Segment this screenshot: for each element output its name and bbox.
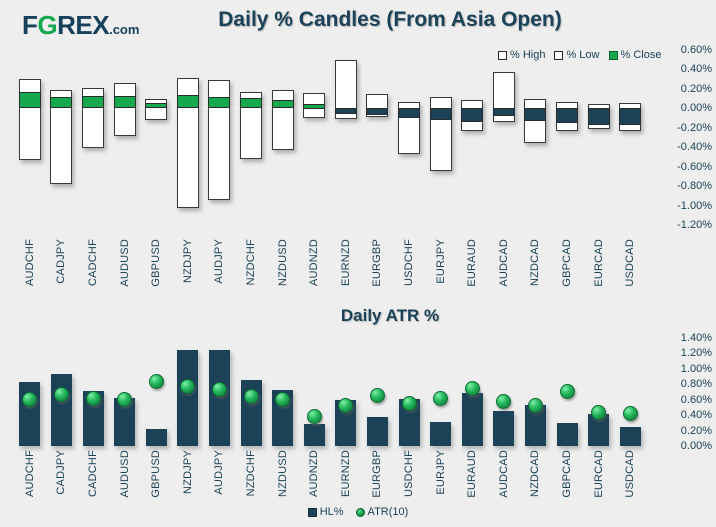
y-axis-tick-label: 0.40% [681, 409, 712, 421]
candle-close-positive [145, 103, 167, 108]
x-axis-tick-label: AUDNZD [308, 450, 320, 497]
atr-dot-audcad [496, 394, 511, 409]
candle-range-body [145, 99, 167, 120]
page-header: FGREX.com Daily % Candles (From Asia Ope… [0, 0, 716, 44]
candle-audnzd [303, 93, 325, 118]
atr-dot-usdcad [623, 406, 638, 421]
x-axis-tick-label: CADCHF [87, 450, 99, 497]
candle-audcad [493, 72, 515, 122]
atr-dot-cadjpy [54, 387, 69, 402]
hl-bar-audcad [493, 411, 514, 446]
atr-dot-eurnzd [338, 398, 353, 413]
x-axis-tick-label: AUDCAD [498, 239, 510, 287]
bottom-chart-x-axis: AUDCHFCADJPYCADCHFAUDUSDGBPUSDNZDJPYAUDJ… [14, 448, 646, 503]
candle-audusd [114, 83, 136, 136]
candle-close-positive [177, 95, 199, 109]
x-axis-tick-label: EURJPY [435, 450, 447, 495]
y-axis-tick-label: 0.60% [681, 44, 712, 56]
atr-dot-gbpcad [560, 384, 575, 399]
x-axis-tick-label: AUDNZD [308, 239, 320, 286]
x-axis-tick-label: GBPUSD [150, 239, 162, 287]
y-axis-tick-label: -0.60% [677, 161, 712, 173]
x-axis-tick-label: EURGBP [371, 450, 383, 498]
candle-close-negative [619, 108, 641, 125]
y-axis-tick-label: 0.00% [681, 440, 712, 452]
logo-text-rex: REX [57, 10, 109, 40]
atr-dot-euraud [465, 381, 480, 396]
hl-bar-eurgbp [367, 417, 388, 446]
x-axis-tick-label: EURCAD [593, 450, 605, 498]
top-chart-title: Daily % Candles (From Asia Open) [180, 8, 600, 32]
hl-bar-nzdjpy [177, 350, 198, 446]
candle-range-body [114, 83, 136, 136]
candle-cadjpy [50, 90, 72, 185]
candle-nzdcad [524, 99, 546, 144]
candle-nzdjpy [177, 78, 199, 208]
y-axis-tick-label: 0.80% [681, 378, 712, 390]
atr-dot-usdchf [402, 396, 417, 411]
bottom-chart-plot-area [14, 330, 646, 446]
y-axis-tick-label: -1.20% [677, 219, 712, 231]
candle-eurgbp [366, 94, 388, 117]
candle-nzdchf [240, 92, 262, 159]
candle-close-positive [114, 96, 136, 109]
y-axis-tick-label: 0.40% [681, 63, 712, 75]
y-axis-tick-label: 1.20% [681, 347, 712, 359]
legend-item-atr10: ATR(10) [356, 506, 409, 518]
hl-bar-euraud [462, 393, 483, 446]
candle-close-negative [524, 108, 546, 121]
candle-range-body [272, 90, 294, 150]
candle-cadchf [82, 88, 104, 148]
legend-label-hl-pct: HL% [320, 506, 344, 518]
candle-close-positive [240, 98, 262, 108]
candle-nzdusd [272, 90, 294, 150]
bottom-chart-y-axis: 1.40%1.20%1.00%0.80%0.60%0.40%0.20%0.00% [648, 330, 714, 446]
x-axis-tick-label: EURNZD [340, 239, 352, 286]
atr-dot-nzdcad [528, 398, 543, 413]
x-axis-tick-label: NZDCAD [529, 239, 541, 286]
x-axis-tick-label: AUDJPY [213, 450, 225, 495]
x-axis-tick-label: NZDCHF [245, 239, 257, 285]
x-axis-tick-label: EURGBP [371, 239, 383, 287]
top-chart-y-axis: 0.60%0.40%0.20%0.00%-0.20%-0.40%-0.60%-0… [648, 40, 714, 235]
candle-close-negative [588, 108, 610, 125]
hl-bar-gbpcad [557, 423, 578, 446]
atr-dot-cadchf [86, 391, 101, 406]
y-axis-tick-label: -0.20% [677, 122, 712, 134]
x-axis-tick-label: EURAUD [466, 239, 478, 287]
x-axis-tick-label: AUDCHF [24, 239, 36, 286]
candle-close-negative [335, 108, 357, 114]
bottom-chart-panel: 1.40%1.20%1.00%0.80%0.60%0.40%0.20%0.00%… [0, 330, 716, 505]
candle-gbpcad [556, 102, 578, 130]
candle-close-positive [50, 97, 72, 109]
candle-close-negative [430, 108, 452, 120]
atr-dot-eurjpy [433, 391, 448, 406]
top-chart-x-axis: AUDCHFCADJPYCADCHFAUDUSDGBPUSDNZDJPYAUDJ… [14, 237, 646, 292]
top-chart-panel: 0.60%0.40%0.20%0.00%-0.20%-0.40%-0.60%-0… [0, 40, 716, 290]
candle-usdchf [398, 102, 420, 154]
y-axis-tick-label: -0.80% [677, 180, 712, 192]
x-axis-tick-label: GBPCAD [561, 450, 573, 498]
candle-range-body [524, 99, 546, 144]
x-axis-tick-label: NZDCAD [529, 450, 541, 497]
candle-gbpusd [145, 99, 167, 120]
logo-text-f: F [22, 10, 37, 40]
candle-audchf [19, 79, 41, 160]
candle-eurjpy [430, 97, 452, 171]
candle-close-positive [19, 92, 41, 109]
logo-text-dotcom: .com [109, 22, 139, 37]
top-chart-plot-area [14, 40, 646, 235]
legend-label-atr10: ATR(10) [368, 506, 409, 518]
candle-euraud [461, 100, 483, 130]
hl-bar-gbpusd [146, 429, 167, 446]
y-axis-tick-label: 0.00% [681, 102, 712, 114]
candle-close-negative [493, 108, 515, 116]
hl-bar-audjpy [209, 350, 230, 446]
x-axis-tick-label: AUDUSD [119, 450, 131, 498]
x-axis-tick-label: USDCHF [403, 239, 415, 286]
atr-dot-eurgbp [370, 388, 385, 403]
candle-audjpy [208, 80, 230, 200]
y-axis-tick-label: 0.20% [681, 83, 712, 95]
x-axis-tick-label: USDCAD [624, 239, 636, 287]
x-axis-tick-label: USDCAD [624, 450, 636, 498]
atr-dot-nzdchf [244, 389, 259, 404]
x-axis-tick-label: CADJPY [55, 239, 67, 284]
x-axis-tick-label: NZDUSD [277, 239, 289, 286]
x-axis-tick-label: EURCAD [593, 239, 605, 287]
x-axis-tick-label: GBPCAD [561, 239, 573, 287]
candle-close-positive [272, 100, 294, 108]
x-axis-tick-label: CADJPY [55, 450, 67, 495]
candle-eurcad [588, 104, 610, 128]
atr-dot-audnzd [307, 409, 322, 424]
x-axis-tick-label: EURNZD [340, 450, 352, 497]
hl-bar-audnzd [304, 424, 325, 446]
bottom-chart-title: Daily ATR % [180, 306, 600, 326]
forex-com-logo: FGREX.com [22, 10, 139, 41]
legend-item-hl-pct: HL% [308, 506, 344, 518]
hl-bar-usdcad [620, 427, 641, 446]
hl-bar-cadjpy [51, 374, 72, 446]
y-axis-tick-label: -0.40% [677, 141, 712, 153]
y-axis-tick-label: 1.40% [681, 332, 712, 344]
x-axis-tick-label: AUDCHF [24, 450, 36, 497]
candle-close-positive [82, 96, 104, 109]
x-axis-tick-label: GBPUSD [150, 450, 162, 498]
x-axis-tick-label: NZDCHF [245, 450, 257, 496]
navy-square-icon [308, 508, 317, 517]
candle-close-negative [366, 108, 388, 115]
x-axis-tick-label: AUDJPY [213, 239, 225, 284]
x-axis-tick-label: USDCHF [403, 450, 415, 497]
candle-eurnzd [335, 60, 357, 119]
x-axis-tick-label: AUDCAD [498, 450, 510, 498]
x-axis-tick-label: EURJPY [435, 239, 447, 284]
x-axis-tick-label: NZDJPY [182, 450, 194, 494]
candle-close-negative [556, 108, 578, 123]
x-axis-tick-label: NZDJPY [182, 239, 194, 283]
candle-close-negative [398, 108, 420, 118]
y-axis-tick-label: 1.00% [681, 363, 712, 375]
x-axis-tick-label: AUDUSD [119, 239, 131, 287]
x-axis-tick-label: CADCHF [87, 239, 99, 286]
zero-gridline [14, 108, 646, 109]
candle-close-positive [208, 97, 230, 109]
atr-dot-gbpusd [149, 374, 164, 389]
x-axis-tick-label: NZDUSD [277, 450, 289, 497]
logo-text-g: G [37, 10, 57, 41]
y-axis-tick-label: -1.00% [677, 200, 712, 212]
x-axis-tick-label: EURAUD [466, 450, 478, 498]
candle-close-negative [461, 108, 483, 122]
y-axis-tick-label: 0.60% [681, 394, 712, 406]
green-dot-icon [356, 508, 365, 517]
candle-usdcad [619, 103, 641, 130]
atr-dot-audjpy [212, 382, 227, 397]
hl-bar-eurjpy [430, 422, 451, 446]
bottom-chart-legend: HL% ATR(10) [0, 506, 716, 518]
y-axis-tick-label: 0.20% [681, 425, 712, 437]
candle-close-positive [303, 104, 325, 109]
